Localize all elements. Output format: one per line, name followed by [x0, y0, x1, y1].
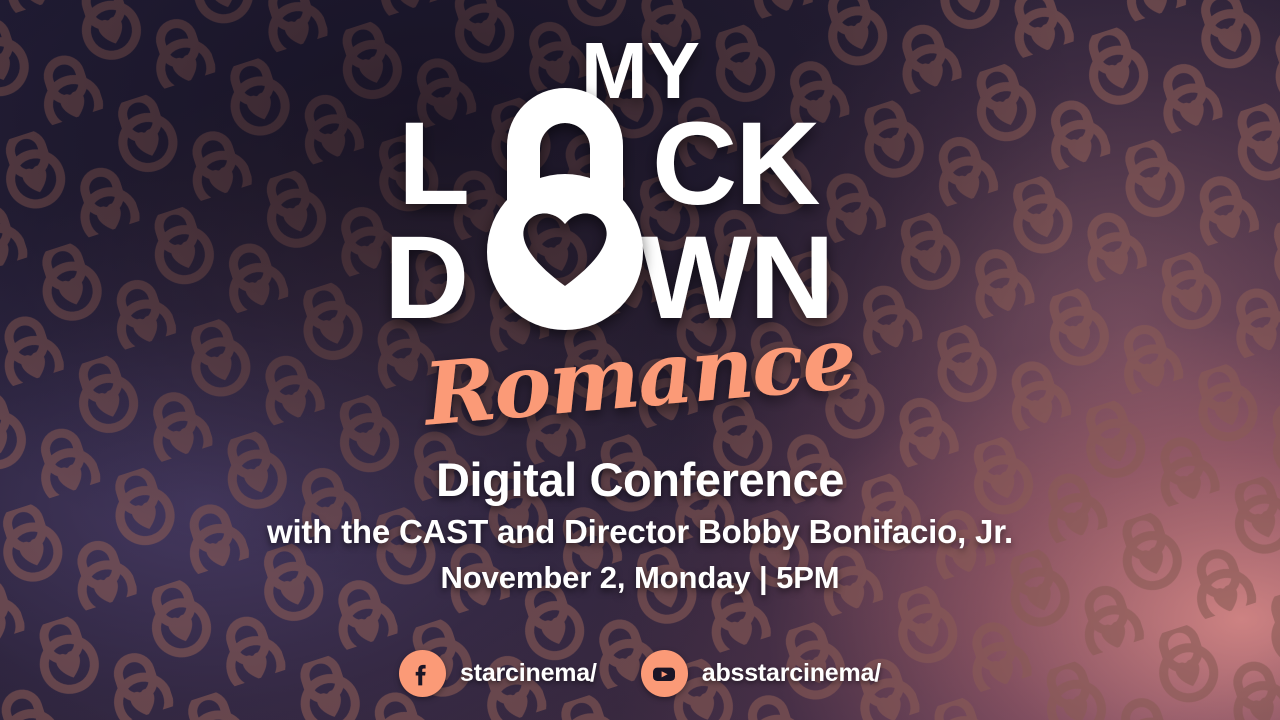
- facebook-handle[interactable]: starcinema/: [460, 659, 597, 688]
- title-script-romance: Romance: [417, 308, 858, 446]
- poster-canvas: MY L CK D WN: [0, 0, 1280, 720]
- event-type-heading: Digital Conference: [436, 455, 844, 505]
- event-datetime-line: November 2, Monday | 5PM: [440, 561, 839, 595]
- event-credits-line: with the CAST and Director Bobby Bonifac…: [267, 514, 1013, 550]
- social-link-youtube[interactable]: absstarcinema/: [641, 650, 881, 697]
- event-details: Digital Conference with the CAST and Dir…: [0, 455, 1280, 595]
- youtube-handle[interactable]: absstarcinema/: [702, 659, 881, 688]
- title-line-lock-right: CK: [652, 98, 820, 230]
- title-lockup-container: MY L CK D WN: [0, 16, 1280, 436]
- title-line-lock-left: L: [398, 98, 468, 230]
- social-link-facebook[interactable]: starcinema/: [399, 650, 597, 697]
- social-links-row: starcinema/ absstarcinema/: [0, 650, 1280, 697]
- padlock-heart-logo-icon: [487, 88, 643, 330]
- youtube-icon[interactable]: [641, 650, 688, 697]
- title-line-down-left: D: [384, 212, 467, 344]
- facebook-icon[interactable]: [399, 650, 446, 697]
- title-lockup: MY L CK D WN: [380, 16, 900, 436]
